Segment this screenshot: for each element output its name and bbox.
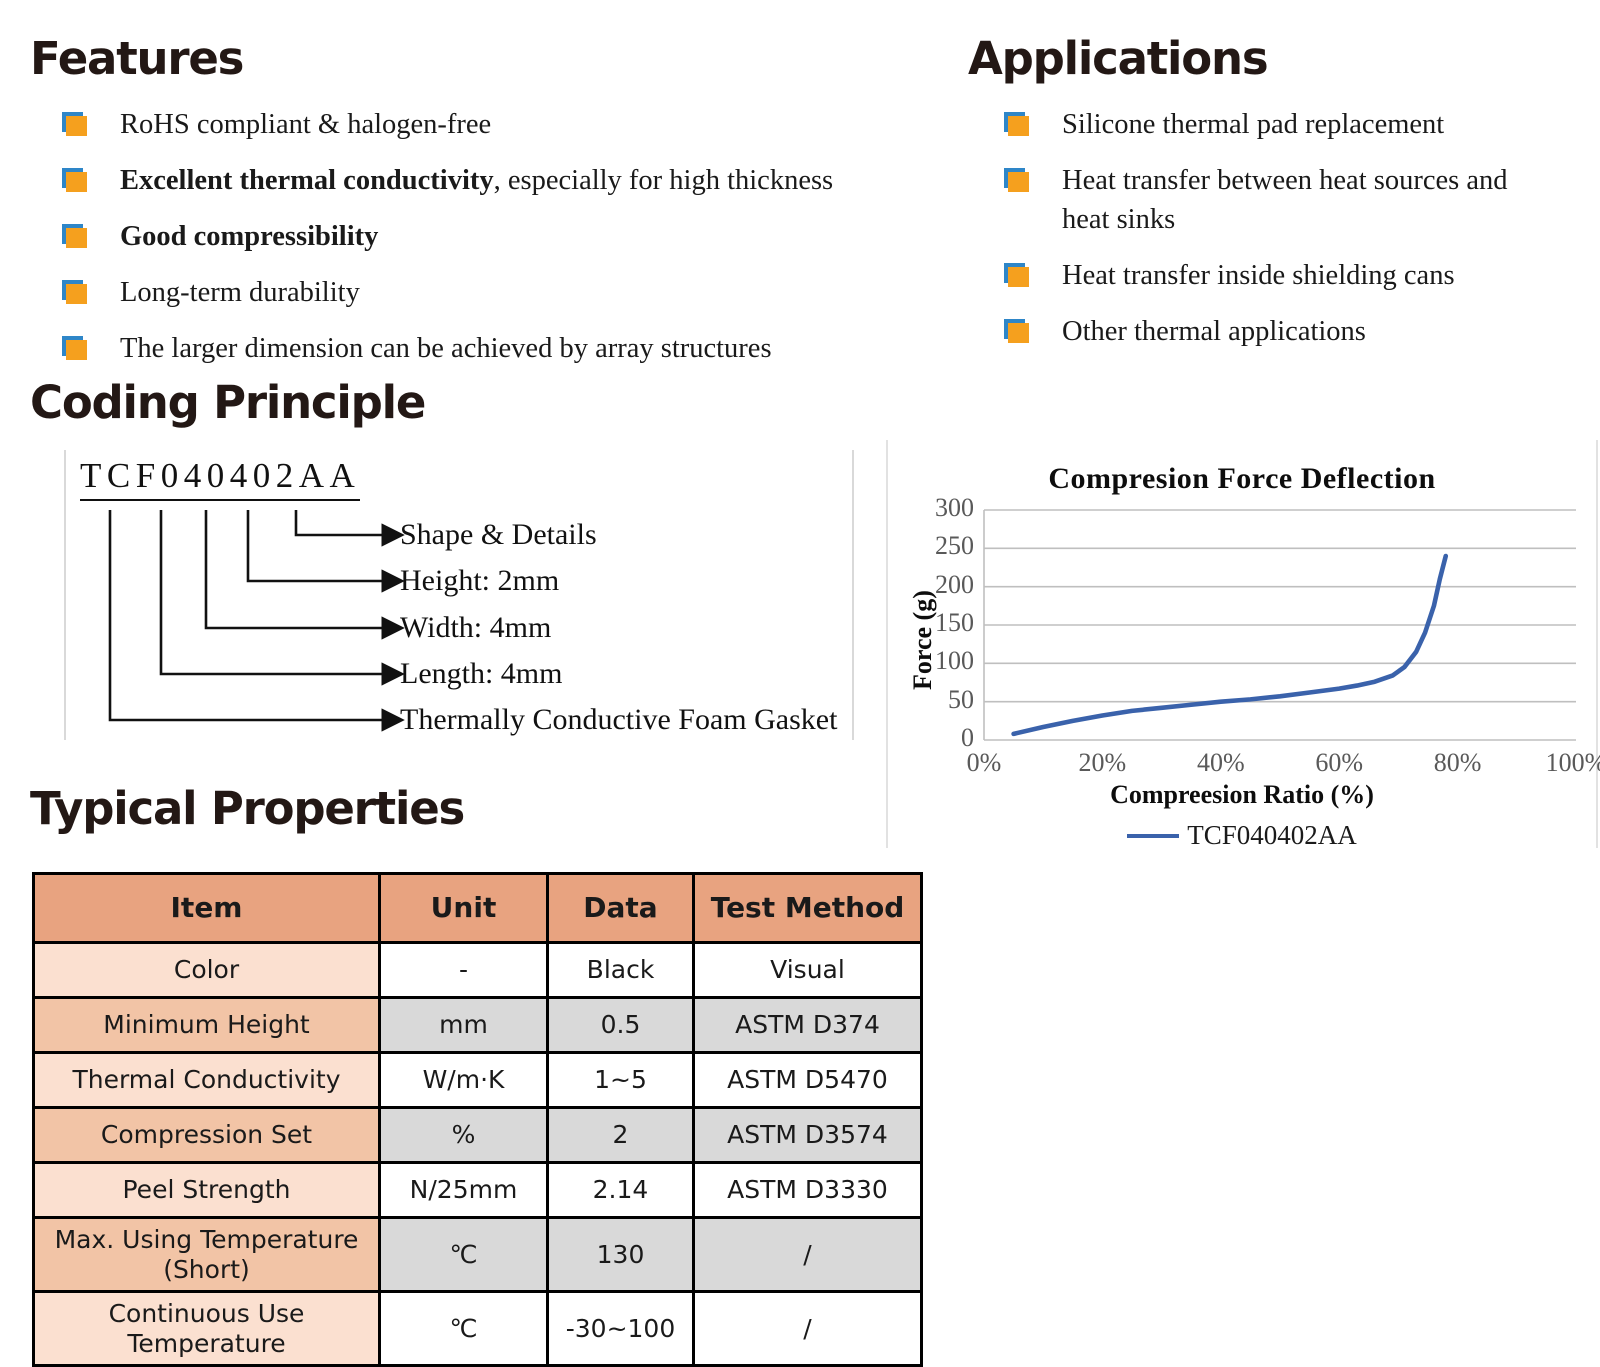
table-header-unit: Unit (380, 874, 548, 943)
features-heading: Features (30, 36, 243, 81)
coding-principle-diagram: TCF040402AA Shape & Details Height: 2mm … (64, 450, 854, 740)
application-item-label: Other thermal applications (1032, 312, 1366, 351)
applications-list: Silicone thermal pad replacementHeat tra… (1004, 105, 1534, 368)
table-cell-unit: mm (380, 998, 548, 1053)
table-row: Peel StrengthN/25mm2.14ASTM D3330 (34, 1163, 922, 1218)
legend-label: TCF040402AA (1187, 820, 1357, 851)
bullet-square-icon (1004, 112, 1032, 138)
application-item: Other thermal applications (1004, 312, 1534, 351)
table-row: Color-BlackVisual (34, 943, 922, 998)
application-item-label: Heat transfer inside shielding cans (1032, 256, 1455, 295)
table-header-row: Item Unit Data Test Method (34, 874, 922, 943)
table-cell-item: Thermal Conductivity (34, 1053, 380, 1108)
application-item: Silicone thermal pad replacement (1004, 105, 1534, 144)
typical-properties-heading: Typical Properties (30, 786, 464, 831)
application-item-label: Heat transfer between heat sources and h… (1032, 161, 1534, 239)
coding-label-width: Width: 4mm (400, 611, 551, 645)
table-header-item: Item (34, 874, 380, 943)
bullet-square-icon (62, 112, 90, 138)
table-row: Compression Set%2ASTM D3574 (34, 1108, 922, 1163)
table-cell-method: ASTM D374 (694, 998, 922, 1053)
coding-label-height: Height: 2mm (400, 564, 559, 598)
table-cell-method: ASTM D3574 (694, 1108, 922, 1163)
table-cell-data: 0.5 (548, 998, 694, 1053)
table-row: Continuous Use Temperature℃-30~100/ (34, 1292, 922, 1366)
table-header-test-method: Test Method (694, 874, 922, 943)
chart-x-axis-title: Compreesion Ratio (%) (888, 780, 1596, 810)
feature-item-label: Excellent thermal conductivity, especial… (90, 161, 833, 200)
table-cell-unit: - (380, 943, 548, 998)
feature-item-label: The larger dimension can be achieved by … (90, 329, 772, 368)
feature-item: Excellent thermal conductivity, especial… (62, 161, 942, 200)
features-list: RoHS compliant & halogen-freeExcellent t… (62, 105, 942, 385)
feature-item: The larger dimension can be achieved by … (62, 329, 942, 368)
legend-line-swatch (1127, 834, 1179, 838)
coding-label-length: Length: 4mm (400, 657, 562, 691)
table-cell-method: ASTM D3330 (694, 1163, 922, 1218)
feature-item: Good compressibility (62, 217, 942, 256)
table-cell-method: / (694, 1292, 922, 1366)
table-cell-data: 130 (548, 1218, 694, 1292)
table-cell-method: / (694, 1218, 922, 1292)
feature-item-label: Good compressibility (90, 217, 378, 256)
bullet-square-icon (62, 336, 90, 362)
feature-item-label: RoHS compliant & halogen-free (90, 105, 491, 144)
table-cell-unit: N/25mm (380, 1163, 548, 1218)
application-item-label: Silicone thermal pad replacement (1032, 105, 1444, 144)
table-cell-data: 1~5 (548, 1053, 694, 1108)
table-cell-method: ASTM D5470 (694, 1053, 922, 1108)
coding-label-product: Thermally Conductive Foam Gasket (400, 703, 837, 737)
table-cell-unit: ℃ (380, 1218, 548, 1292)
chart-legend: TCF040402AA (888, 820, 1596, 851)
table-row: Thermal ConductivityW/m·K1~5ASTM D5470 (34, 1053, 922, 1108)
table-cell-data: -30~100 (548, 1292, 694, 1366)
bullet-square-icon (62, 280, 90, 306)
bullet-square-icon (62, 224, 90, 250)
table-cell-item: Color (34, 943, 380, 998)
table-cell-data: 2.14 (548, 1163, 694, 1218)
table-cell-item: Continuous Use Temperature (34, 1292, 380, 1366)
bullet-square-icon (1004, 263, 1032, 289)
table-cell-unit: % (380, 1108, 548, 1163)
bullet-square-icon (62, 168, 90, 194)
application-item: Heat transfer between heat sources and h… (1004, 161, 1534, 239)
compression-force-deflection-chart: Compresion Force Deflection Force (g) 05… (886, 440, 1598, 848)
table-cell-data: Black (548, 943, 694, 998)
feature-item: Long-term durability (62, 273, 942, 312)
table-cell-data: 2 (548, 1108, 694, 1163)
application-item: Heat transfer inside shielding cans (1004, 256, 1534, 295)
typical-properties-table: Item Unit Data Test Method Color-BlackVi… (32, 872, 923, 1367)
coding-principle-heading: Coding Principle (30, 380, 425, 425)
table-cell-item: Compression Set (34, 1108, 380, 1163)
bullet-square-icon (1004, 168, 1032, 194)
feature-item-label: Long-term durability (90, 273, 360, 312)
bullet-square-icon (1004, 319, 1032, 345)
table-cell-item: Minimum Height (34, 998, 380, 1053)
table-cell-item: Max. Using Temperature(Short) (34, 1218, 380, 1292)
table-cell-item: Peel Strength (34, 1163, 380, 1218)
feature-item: RoHS compliant & halogen-free (62, 105, 942, 144)
table-header-data: Data (548, 874, 694, 943)
table-cell-method: Visual (694, 943, 922, 998)
table-cell-unit: W/m·K (380, 1053, 548, 1108)
table-cell-unit: ℃ (380, 1292, 548, 1366)
applications-heading: Applications (968, 36, 1267, 81)
coding-label-shape: Shape & Details (400, 518, 597, 552)
table-row: Max. Using Temperature(Short)℃130/ (34, 1218, 922, 1292)
table-row: Minimum Heightmm0.5ASTM D374 (34, 998, 922, 1053)
